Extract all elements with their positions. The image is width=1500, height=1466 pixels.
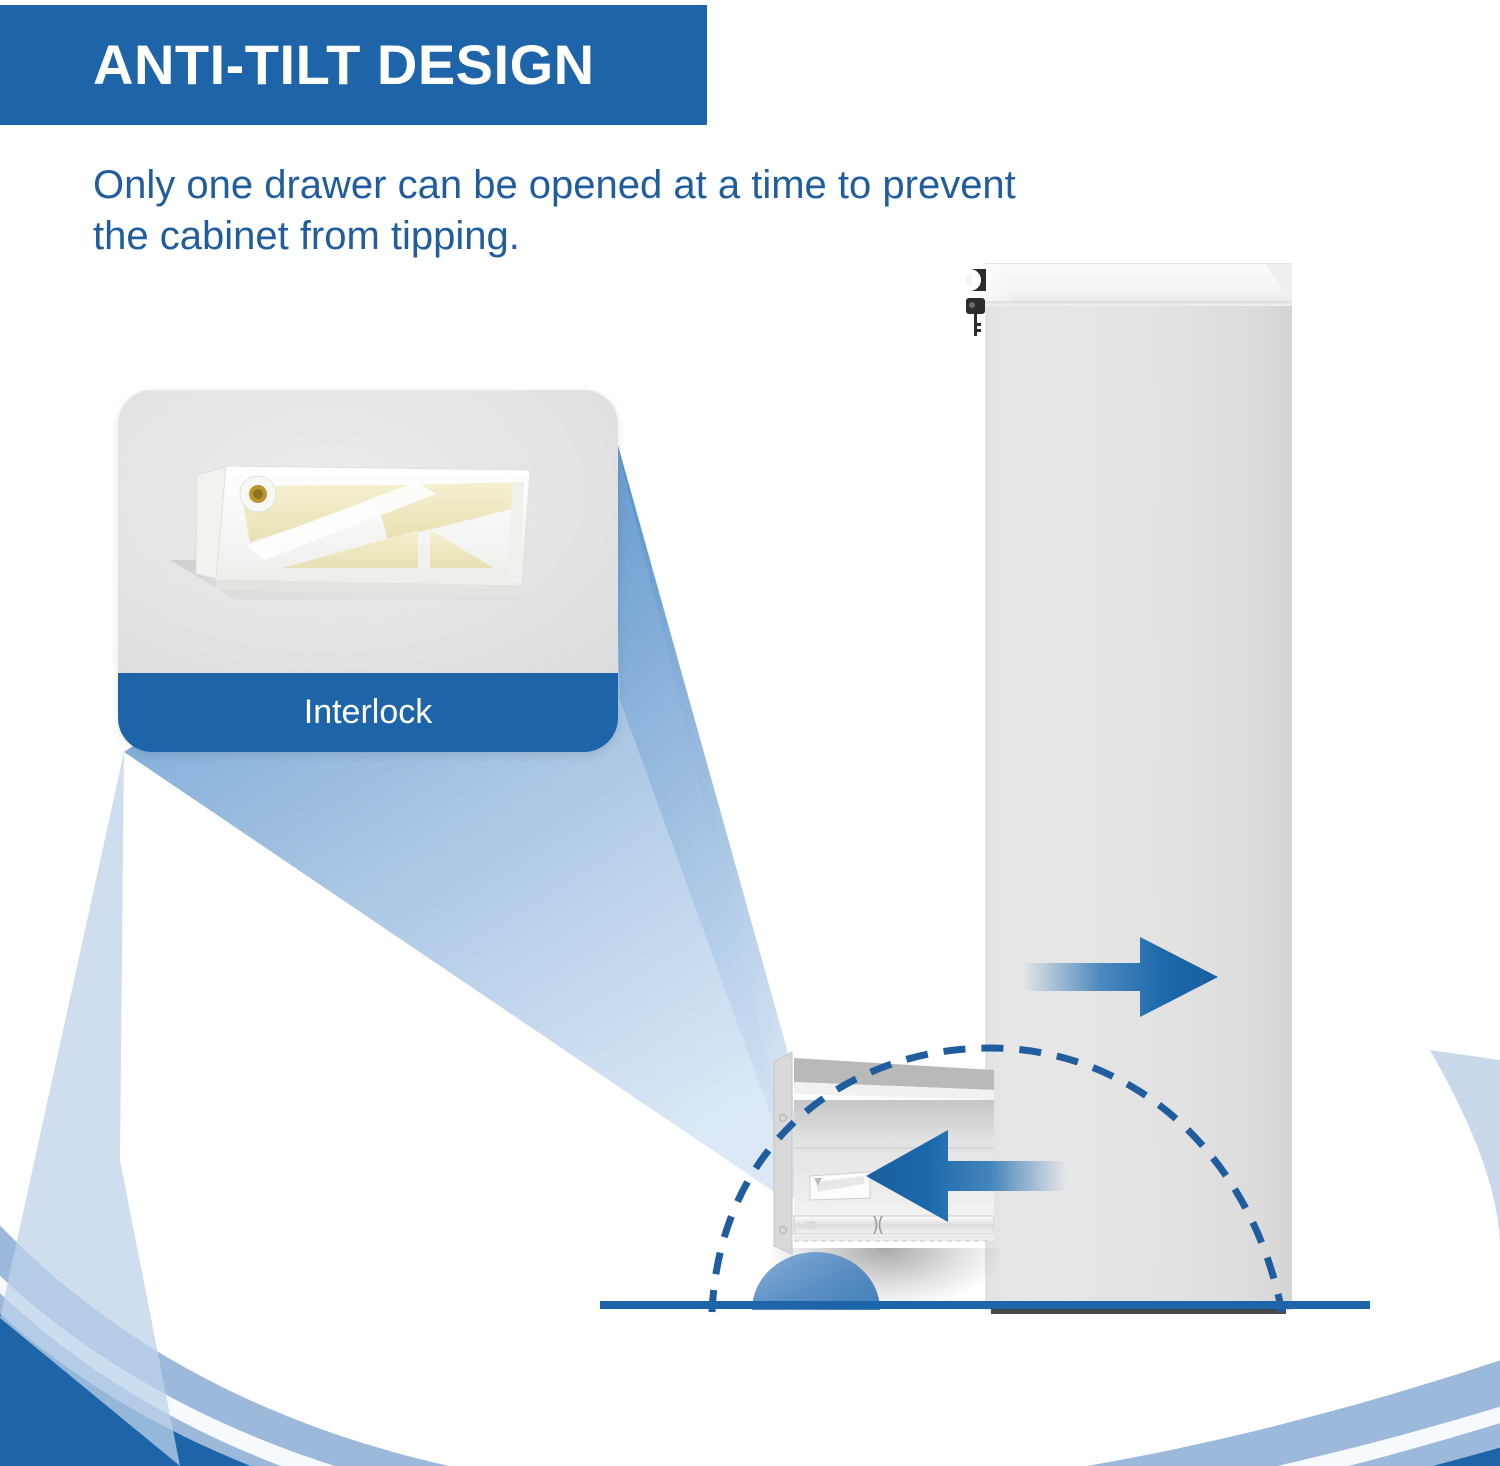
key-head-icon (966, 298, 985, 314)
subtitle-line-2: the cabinet from tipping. (93, 211, 1213, 262)
subtitle-line-1: Only one drawer can be opened at a time … (93, 160, 1213, 211)
swoosh-corner-accent (1430, 1050, 1500, 1250)
key-shaft-icon (974, 314, 977, 336)
interlock-part-illustration (118, 390, 618, 673)
key-tooth-2-icon (977, 329, 981, 332)
arrow-right-icon (1022, 935, 1218, 1019)
arrow-right-shape (1022, 937, 1218, 1017)
cabinet-top-corner-right (1266, 264, 1292, 304)
lock-and-key-icon (960, 265, 1000, 340)
interlock-card-footer: Interlock (118, 673, 618, 752)
page-title: ANTI-TILT DESIGN (93, 37, 595, 93)
floor-line (600, 1292, 1370, 1316)
header-banner: ANTI-TILT DESIGN (0, 5, 707, 125)
cone-lower-flare (0, 752, 180, 1466)
lock-cylinder-icon (970, 269, 986, 291)
screw-head-slot (253, 489, 263, 499)
floor-line-bar (600, 1301, 1370, 1309)
interlock-photo (118, 390, 618, 673)
interlock-callout-card: Interlock (118, 390, 618, 752)
interlock-card-label: Interlock (304, 693, 433, 732)
cabinet-top-cap (985, 263, 1292, 304)
subtitle-block: Only one drawer can be opened at a time … (93, 160, 1213, 262)
infographic-page: ANTI-TILT DESIGN Only one drawer can be … (0, 0, 1500, 1466)
key-ring-hole-icon (969, 302, 975, 308)
key-tooth-1-icon (977, 323, 981, 326)
lock-keyhole-icon (966, 274, 972, 286)
